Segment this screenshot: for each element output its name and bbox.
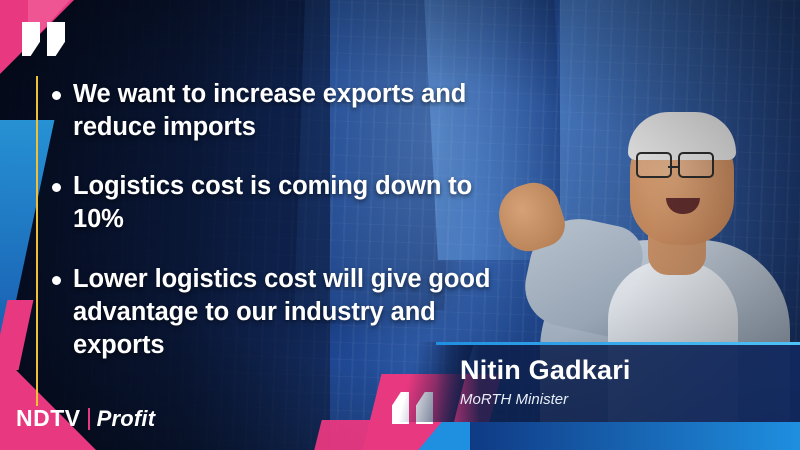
- quote-bullet-text: Logistics cost is coming down to 10%: [73, 170, 522, 236]
- logo-ndtv-text: NDTV: [16, 405, 81, 432]
- list-item: Logistics cost is coming down to 10%: [52, 170, 522, 236]
- nameplate-top-accent: [436, 342, 800, 345]
- quote-card: We want to increase exports and reduce i…: [0, 0, 800, 450]
- list-item: We want to increase exports and reduce i…: [52, 78, 522, 144]
- blue-bar-bottom: [470, 422, 800, 450]
- ndtv-profit-logo: NDTV Profit: [16, 405, 155, 432]
- speaker-role: MoRTH Minister: [460, 391, 782, 408]
- logo-profit-text: Profit: [97, 406, 156, 432]
- bullet-dot-icon: [52, 91, 61, 100]
- speaker-name: Nitin Gadkari: [460, 356, 782, 386]
- quote-bullet-text: We want to increase exports and reduce i…: [73, 78, 522, 144]
- logo-divider: [88, 408, 90, 430]
- bullet-dot-icon: [52, 276, 61, 285]
- yellow-vertical-rule: [36, 76, 38, 406]
- quote-open-icon: [22, 22, 65, 56]
- bullet-dot-icon: [52, 183, 61, 192]
- speaker-nameplate: Nitin Gadkari MoRTH Minister: [436, 342, 800, 422]
